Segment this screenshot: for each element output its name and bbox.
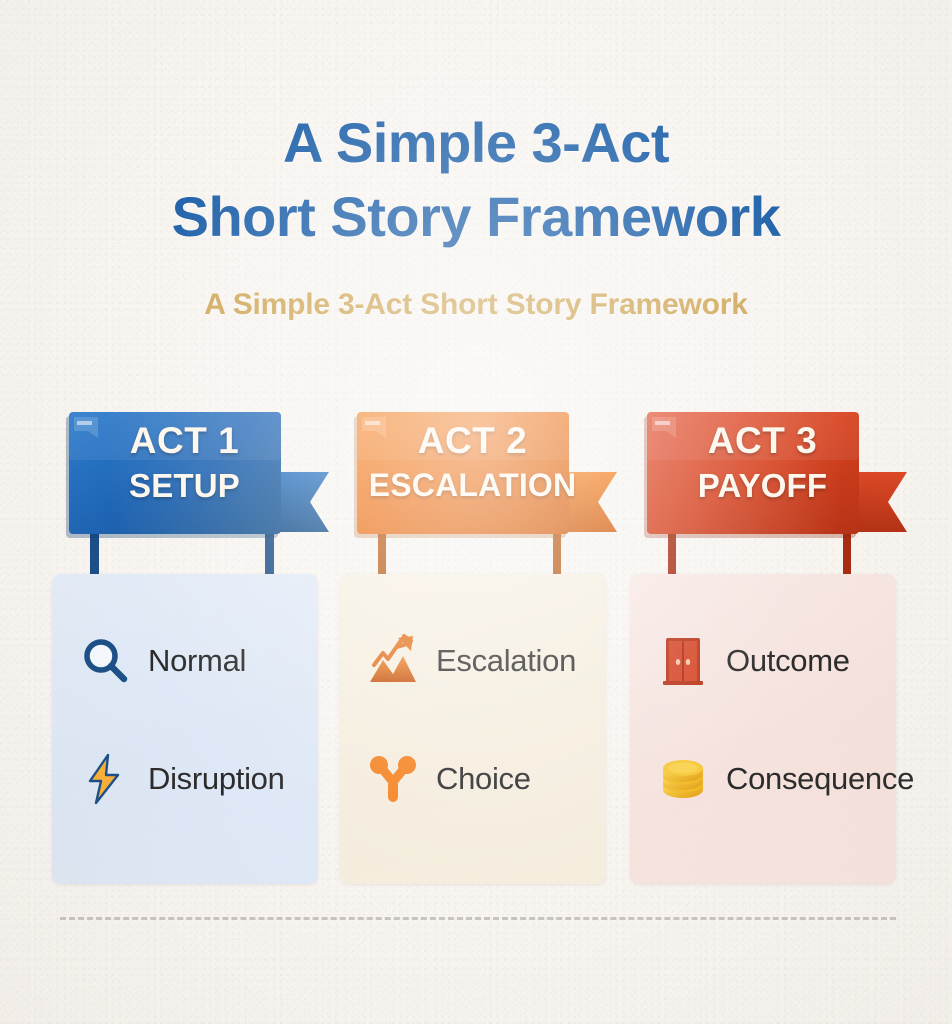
decision-fork-icon [366, 752, 420, 806]
act-column-3: ACT 3 PAYOFF Outcome [630, 404, 920, 579]
act-3-item-2-label: Consequence [726, 761, 914, 797]
act-1-card: Normal Disruption [52, 574, 318, 884]
rising-mountain-chart-icon [366, 634, 420, 688]
act-2-card: Escalation Choice [340, 574, 606, 884]
act-1-item-2[interactable]: Disruption [78, 752, 285, 806]
act-3-banner-shape [630, 404, 920, 579]
act-2-banner[interactable]: ACT 2 ESCALATION [340, 404, 630, 579]
title-line-2: Short Story Framework [0, 180, 952, 254]
lightning-bolt-icon [78, 752, 132, 806]
door-icon [656, 634, 710, 688]
act-3-item-1-label: Outcome [726, 643, 850, 679]
act-1-item-1[interactable]: Normal [78, 634, 246, 688]
act-2-item-2[interactable]: Choice [366, 752, 531, 806]
coin-stack-icon [656, 752, 710, 806]
act-2-item-2-label: Choice [436, 761, 531, 797]
page-subtitle: A Simple 3-Act Short Story Framework [0, 288, 952, 322]
act-3-banner[interactable]: ACT 3 PAYOFF [630, 404, 920, 579]
page-title: A Simple 3-Act Short Story Framework [0, 106, 952, 255]
act-1-banner-shape [52, 404, 342, 579]
act-2-banner-shape [340, 404, 630, 579]
act-column-1: ACT 1 SETUP Normal Disruption [52, 404, 342, 579]
act-1-banner[interactable]: ACT 1 SETUP [52, 404, 342, 579]
title-line-1: A Simple 3-Act [0, 106, 952, 180]
magnifier-icon [78, 634, 132, 688]
act-column-2: ACT 2 ESCALATION Escalation [340, 404, 630, 579]
act-3-card: Outcome Consequence [630, 574, 896, 884]
act-1-item-2-label: Disruption [148, 761, 285, 797]
act-3-item-1[interactable]: Outcome [656, 634, 850, 688]
act-2-item-1[interactable]: Escalation [366, 634, 576, 688]
act-1-item-1-label: Normal [148, 643, 246, 679]
footer-divider [60, 917, 896, 920]
act-3-item-2[interactable]: Consequence [656, 752, 914, 806]
act-2-item-1-label: Escalation [436, 643, 576, 679]
